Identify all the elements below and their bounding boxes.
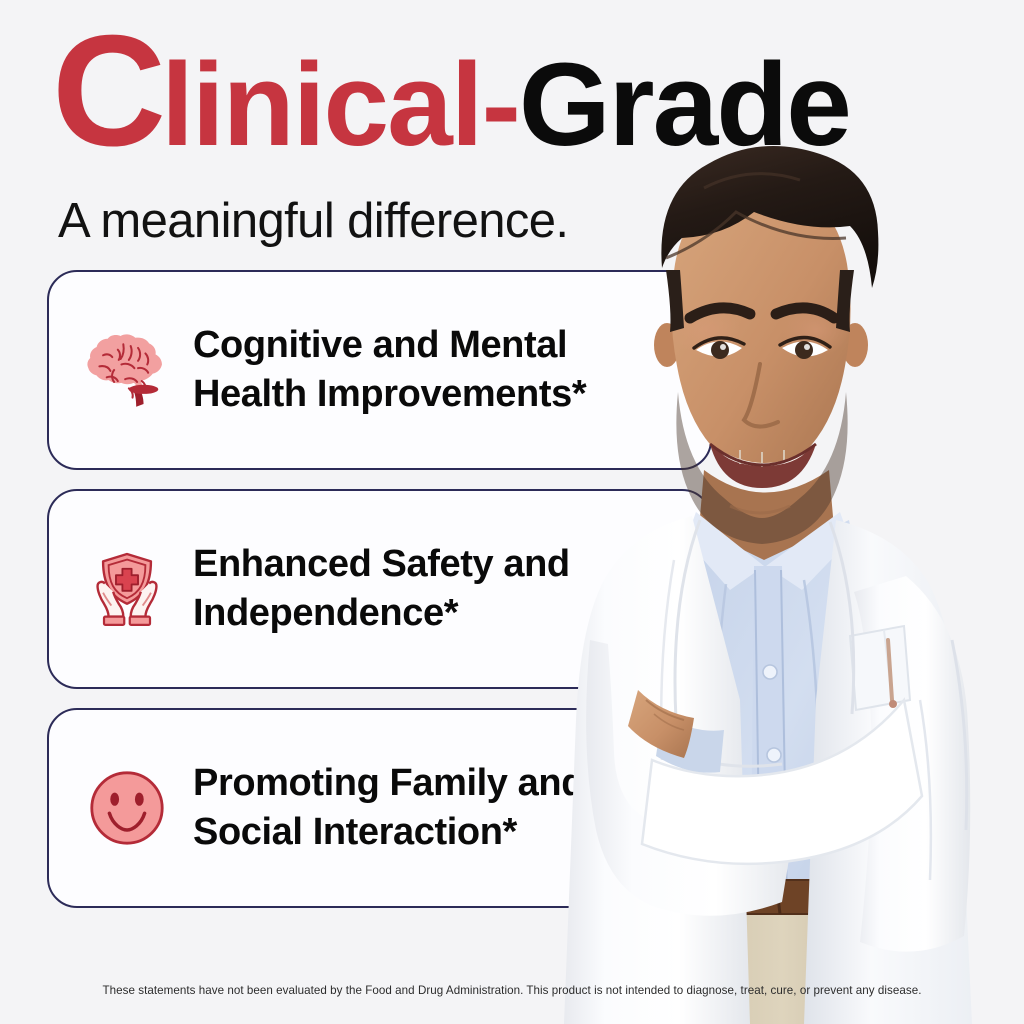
fda-disclaimer: These statements have not been evaluated… bbox=[0, 984, 1024, 997]
benefit-card-cognitive-text: Cognitive and Mental Health Improvements… bbox=[193, 321, 586, 420]
title-dark-part: Grade bbox=[519, 39, 850, 171]
promo-graphic: Clinical-Grade A meaningful difference. bbox=[0, 0, 1024, 1024]
title-red-part: linical- bbox=[161, 39, 519, 171]
smiley-face-icon bbox=[79, 760, 175, 856]
benefit-line-1: Cognitive and Mental bbox=[193, 321, 586, 370]
benefit-line-1: Enhanced Safety and bbox=[193, 540, 570, 589]
benefit-line-2: Social Interaction* bbox=[193, 808, 584, 857]
benefit-card-safety-text: Enhanced Safety and Independence* bbox=[193, 540, 570, 639]
benefit-card-cognitive[interactable]: Cognitive and Mental Health Improvements… bbox=[47, 270, 712, 470]
benefit-line-1: Promoting Family and bbox=[193, 759, 584, 808]
benefit-line-2: Independence* bbox=[193, 589, 570, 638]
benefit-card-social-text: Promoting Family and Social Interaction* bbox=[193, 759, 584, 858]
benefit-card-social[interactable]: Promoting Family and Social Interaction* bbox=[47, 708, 712, 908]
heading-block: Clinical-Grade bbox=[52, 16, 850, 166]
page-subtitle: A meaningful difference. bbox=[58, 193, 568, 249]
brain-icon bbox=[79, 322, 175, 418]
title-cap-letter: C bbox=[52, 3, 161, 179]
benefit-line-2: Health Improvements* bbox=[193, 370, 586, 419]
benefit-card-list: Cognitive and Mental Health Improvements… bbox=[47, 270, 712, 927]
shield-hands-icon bbox=[79, 541, 175, 637]
page-title: Clinical-Grade bbox=[52, 16, 850, 166]
benefit-card-safety[interactable]: Enhanced Safety and Independence* bbox=[47, 489, 712, 689]
